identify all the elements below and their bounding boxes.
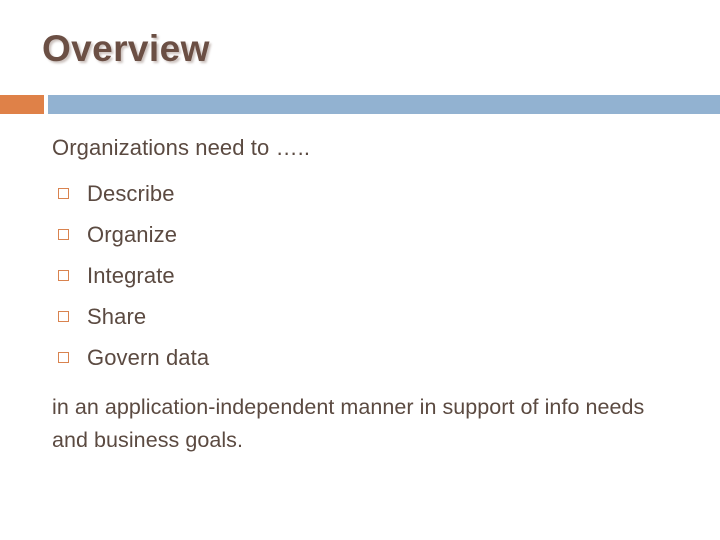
bullet-list: Describe Organize Integrate Share Govern… [52, 173, 672, 378]
list-item: Share [52, 296, 672, 337]
slide: Overview Organizations need to ….. Descr… [0, 0, 720, 540]
list-item-label: Describe [87, 180, 175, 208]
slide-body: Organizations need to ….. Describe Organ… [52, 132, 672, 457]
square-bullet-icon [58, 229, 69, 240]
square-bullet-icon [58, 270, 69, 281]
list-item: Describe [52, 173, 672, 214]
list-item-label: Share [87, 303, 146, 331]
intro-text: Organizations need to ….. [52, 132, 672, 163]
list-item: Integrate [52, 255, 672, 296]
square-bullet-icon [58, 352, 69, 363]
square-bullet-icon [58, 188, 69, 199]
closing-text: in an application-independent manner in … [52, 391, 662, 457]
horizontal-rule-bar [48, 95, 720, 114]
title-divider [0, 95, 720, 114]
list-item-label: Govern data [87, 344, 209, 372]
list-item-label: Organize [87, 221, 177, 249]
list-item-label: Integrate [87, 262, 175, 290]
accent-block [0, 95, 44, 114]
square-bullet-icon [58, 311, 69, 322]
list-item: Govern data [52, 337, 672, 378]
page-title: Overview [42, 26, 210, 72]
list-item: Organize [52, 214, 672, 255]
